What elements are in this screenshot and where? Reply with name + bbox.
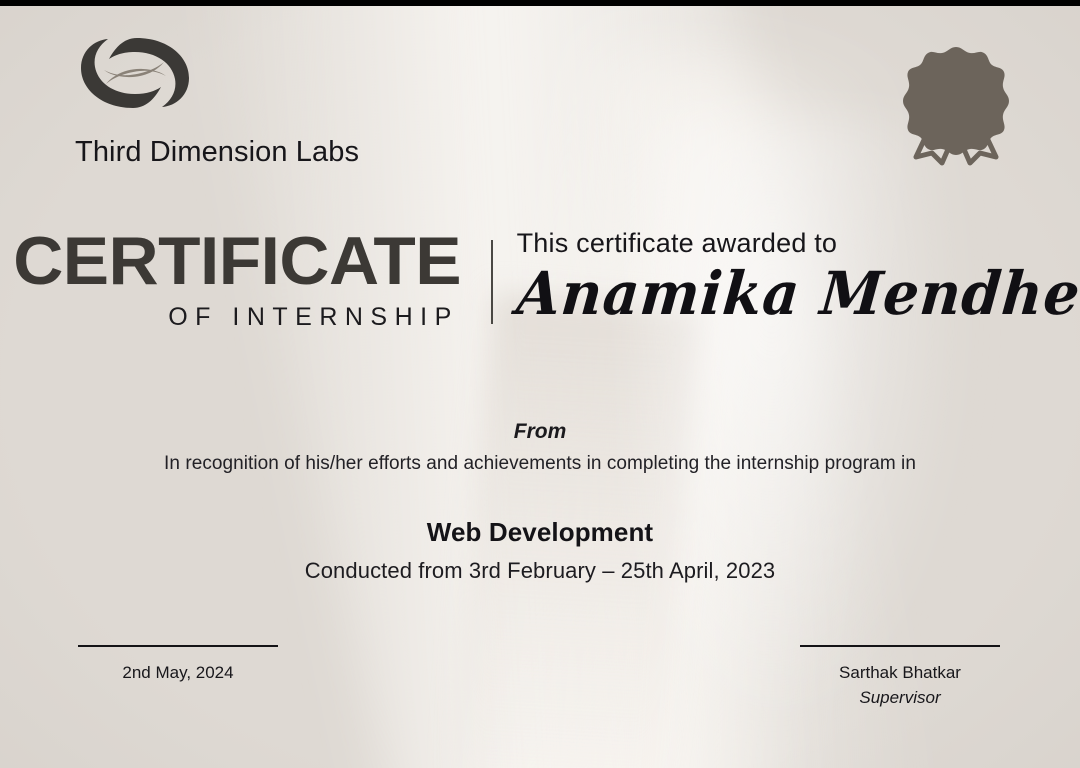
issue-date: 2nd May, 2024 xyxy=(78,663,278,683)
signature-block-supervisor: Sarthak Bhatkar Supervisor xyxy=(800,645,1000,708)
from-label: From xyxy=(0,420,1080,444)
recipient-block: This certificate awarded to Anamika Mend… xyxy=(493,228,1080,332)
page-subtitle: OF INTERNSHIP xyxy=(168,303,461,332)
brand-name: Third Dimension Labs xyxy=(75,136,359,169)
certificate-document: Third Dimension Labs CERTIFICATE OF INTE… xyxy=(0,0,1080,768)
body-block: From In recognition of his/her efforts a… xyxy=(0,420,1080,584)
swirl-logo-icon xyxy=(75,32,195,114)
title-row: CERTIFICATE OF INTERNSHIP This certifica… xyxy=(0,228,1080,332)
supervisor-name: Sarthak Bhatkar xyxy=(800,663,1000,683)
title-left-block: CERTIFICATE OF INTERNSHIP xyxy=(0,228,491,332)
certificate-content: Third Dimension Labs CERTIFICATE OF INTE… xyxy=(0,0,1080,768)
brand-block: Third Dimension Labs xyxy=(75,32,359,169)
program-name: Web Development xyxy=(0,517,1080,548)
page-title: CERTIFICATE xyxy=(13,228,461,295)
program-duration: Conducted from 3rd February – 25th April… xyxy=(0,558,1080,584)
signature-rule-left xyxy=(78,645,278,647)
signature-rule-right xyxy=(800,645,1000,647)
top-black-band xyxy=(0,0,1080,6)
supervisor-role: Supervisor xyxy=(800,688,1000,708)
recognition-text: In recognition of his/her efforts and ac… xyxy=(0,453,1080,475)
awarded-to-label: This certificate awarded to xyxy=(517,228,1080,259)
recipient-name: Anamika Mendhe xyxy=(514,259,1080,329)
signature-block-date: 2nd May, 2024 xyxy=(78,645,278,683)
award-rosette-seal-icon xyxy=(902,45,1010,167)
